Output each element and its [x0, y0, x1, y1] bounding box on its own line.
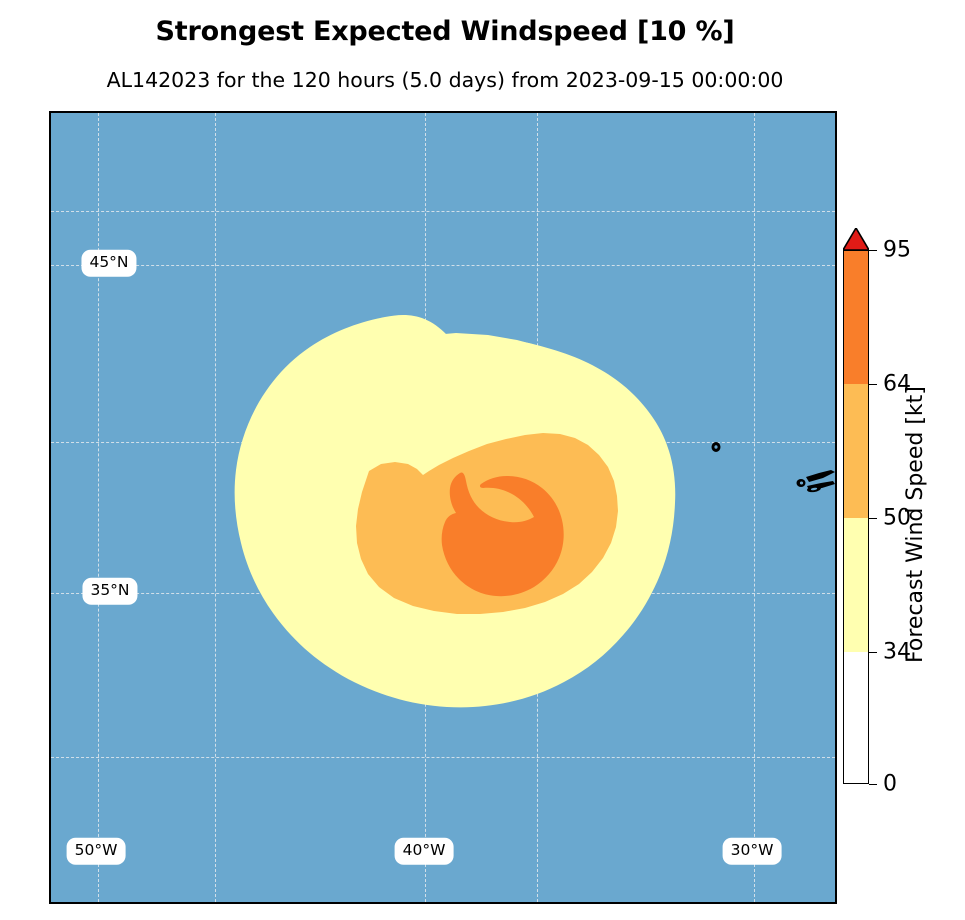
colorbar-axis-label: Forecast Wind Speed [kt]	[903, 373, 933, 663]
graticule-label-40w: 40°W	[395, 838, 454, 865]
colorbar-tick-34	[869, 652, 877, 653]
colorbar-band-0-34	[843, 652, 869, 784]
graticule-label-45n: 45°N	[81, 250, 136, 277]
figure-subtitle: AL142023 for the 120 hours (5.0 days) fr…	[0, 68, 890, 92]
colorbar-tick-0	[869, 784, 877, 785]
map-plot-area[interactable]	[49, 111, 837, 904]
colorbar-ticklabel-0: 0	[883, 772, 897, 797]
graticule-label-30w: 30°W	[723, 838, 782, 865]
island-santa-maria-inner	[714, 445, 717, 449]
colorbar-tick-95	[869, 250, 877, 251]
graticule-label-35n: 35°N	[82, 578, 137, 605]
colorbar-tick-64	[869, 384, 877, 385]
island-group-central-azores	[797, 470, 836, 493]
colorbar-band-34-50	[843, 518, 869, 652]
colorbar-tick-50	[869, 518, 877, 519]
map-canvas	[51, 113, 835, 902]
page-title: Strongest Expected Windspeed [10 %]	[0, 16, 890, 47]
wind-contour-overlay	[51, 113, 835, 902]
colorbar-band-64-95	[843, 250, 869, 384]
colorbar[interactable]	[843, 236, 869, 784]
graticule-label-50w: 50°W	[67, 838, 126, 865]
colorbar-ticklabel-95: 95	[883, 238, 911, 263]
colorbar-band-50-64	[843, 384, 869, 518]
